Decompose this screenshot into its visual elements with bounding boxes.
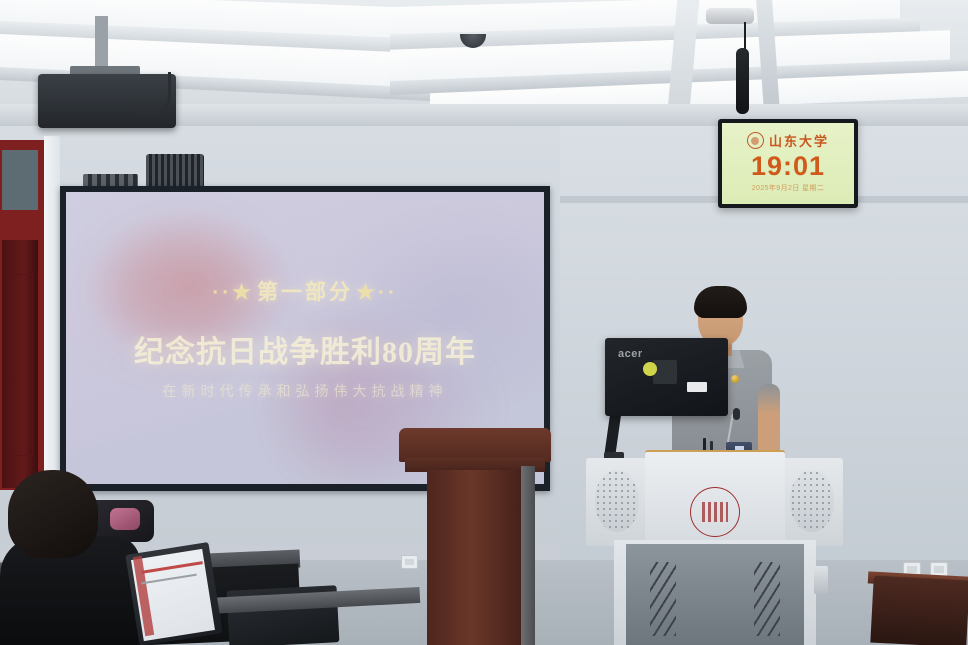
projector-mount [95,16,108,72]
speaker-grille-icon [595,470,639,532]
university-seal-icon [747,132,764,149]
backpack-pocket [110,508,140,530]
monitor-vesa-plate [653,360,677,384]
lectern-cabinet-door[interactable] [626,544,804,645]
cabinet-vent-icon [754,562,780,636]
projector-cable [138,72,171,115]
presenter-hair [694,286,747,318]
clock-screen: 山东大学 19:01 2025年9月2日 星期二 [722,123,854,204]
microphone-mount [706,8,754,24]
slide-section-label: ··★第一部分★·· [66,276,544,306]
lapel-badge-icon [731,375,739,383]
classroom-door[interactable] [2,240,38,488]
university-emblem-icon [690,487,740,537]
clock-date: 2025年9月2日 星期二 [722,183,854,193]
wooden-podium-top [399,428,551,462]
presenter-arm [758,384,780,458]
lecture-hall-photo: ··★第一部分★·· 纪念抗日战争胜利80周年 在新时代传承和弘扬伟大抗战精神 … [0,0,968,645]
stars-left-icon: ··★ [212,281,254,304]
microphone-wire [744,22,746,50]
cabinet-latch[interactable] [814,566,828,594]
microphone-capsule-icon [733,408,740,420]
slide-title: 纪念抗日战争胜利80周年 [66,327,544,371]
wall-outlet[interactable] [401,555,418,569]
monitor-brand-label: acer [618,348,643,360]
monitor-arm-hinge [643,362,657,376]
university-name: 山东大学 [769,131,829,150]
digital-clock: 山东大学 19:01 2025年9月2日 星期二 [718,119,858,208]
wooden-podium [427,470,525,645]
stars-right-icon: ★·· [356,281,398,304]
door-window [2,150,38,210]
lectern-speaker-right [780,458,843,546]
wooden-podium-edge [521,466,535,645]
student-head [8,470,98,558]
lectern-speaker-left [586,458,649,546]
clock-logo-row: 山东大学 [722,131,854,150]
wall-pillar [44,136,60,496]
slide-content: ··★第一部分★·· 纪念抗日战争胜利80周年 在新时代传承和弘扬伟大抗战精神 [66,276,544,401]
slide-subtitle: 在新时代传承和弘扬伟大抗战精神 [66,381,544,401]
slide-section-text: 第一部分 [257,281,353,304]
hanging-microphone [736,48,749,114]
cabinet-vent-icon [650,562,676,636]
clock-time: 19:01 [722,151,854,182]
speaker-grille-icon [790,470,834,532]
monitor-sticker [687,382,707,392]
wooden-desk [870,576,968,645]
